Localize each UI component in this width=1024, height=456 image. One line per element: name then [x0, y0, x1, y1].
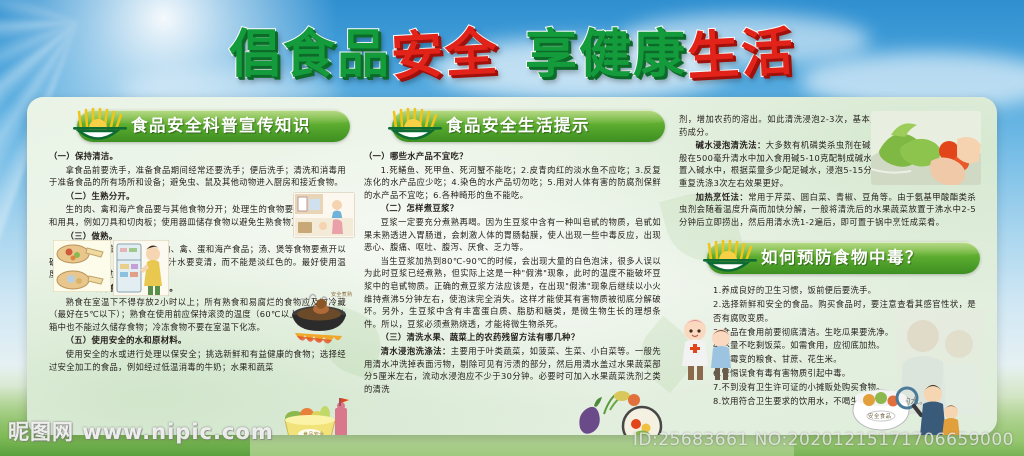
- poster-canvas: 倡食品安全享健康生活 食品安全科普宣传知识: [0, 0, 1024, 456]
- svg-text:安全食品: 安全食品: [868, 412, 892, 420]
- title-part-4: 生活: [685, 19, 796, 91]
- list-item: 1.养成良好的卫生习惯，饭前便后要洗手。: [713, 284, 976, 297]
- svg-text:食品安全: 食品安全: [303, 431, 324, 435]
- panel1-body: 安全煮熟 食品安全 （一）保持清洁。: [45, 144, 350, 373]
- cutting-board-raw-food-illustration: [53, 240, 111, 292]
- fruit-basket-safe-food-illustration: 食品安全: [265, 394, 351, 435]
- image-id-watermark: ID:25683661 NO:20201215171706659000: [633, 430, 1014, 450]
- site-watermark: 昵图网 www.nipic.com: [8, 416, 274, 446]
- bowl-sunrise-icon: [71, 106, 133, 146]
- panel3-continued-body: 剂，增加农药的溶出。如此清洗浸泡2-3次，基本上可清除绝大部分残留的农药成分。 …: [675, 97, 980, 228]
- panel2-body: （一）哪些水产品不宜吃？ 1.死鳝鱼、死甲鱼、死河蟹不能吃；2.皮青肉红的淡水鱼…: [360, 144, 665, 395]
- section-text: 加热烹饪法：常用于芹菜、圆白菜、青椒、豆角等。由于氨基甲酸酯类杀虫剂会随着温度升…: [679, 191, 976, 229]
- vegetable-magnifier-illustration: [574, 384, 666, 435]
- panel-prevent-food-poisoning: 剂，增加农药的溶出。如此清洗浸泡2-3次，基本上可清除绝大部分残留的农药成分。 …: [675, 97, 980, 409]
- nurse-cartoon-illustration: [677, 314, 737, 382]
- panel1-header: 食品安全科普宣传知识: [45, 110, 350, 144]
- panel2-header: 食品安全生活提示: [360, 110, 665, 144]
- section-heading: （二）怎样煮豆浆？: [364, 202, 661, 215]
- food-inspection-cartoon-illustration: 安全食品: [845, 380, 963, 435]
- title-part-2: 安全: [389, 19, 500, 91]
- section-heading: （一）保持清洁。: [49, 150, 346, 163]
- section-text: 拿食品前要洗手，准备食品期间经常还要洗手；便后洗手；清洗和消毒用于准备食品的所有…: [49, 164, 346, 189]
- refrigerator-woman-illustration: [113, 240, 169, 296]
- panel3-title: 如何预防食物中毒？: [761, 242, 923, 274]
- poster-title: 倡食品安全享健康生活: [0, 22, 1024, 88]
- section-text: 使用安全的水或进行处理以保安全；挑选新鲜和有益健康的食物；选择经过安全加工的食品…: [49, 348, 346, 373]
- content-board: 食品安全科普宣传知识: [27, 97, 997, 435]
- panel3-header: 如何预防食物中毒？: [675, 242, 980, 276]
- washing-vegetables-hands-illustration: [871, 111, 981, 185]
- section-heading: （三）清洗水果、蔬菜上的农药残留方法有哪几种？: [364, 331, 661, 344]
- svg-text:安全煮熟: 安全煮熟: [331, 291, 352, 298]
- panel3-tips-body: 安全食品 1.养成良好的卫生习惯，饭前便后要洗手。 2.选择新鲜和安全的食品。购…: [675, 276, 980, 408]
- section-text: 豆浆一定要充分煮熟再喝。因为生豆浆中含有一种叫皂甙的物质，皂甙如果未熟透进入胃肠…: [364, 216, 661, 254]
- panel1-title: 食品安全科普宣传知识: [131, 110, 311, 142]
- handwashing-kitchen-illustration: [293, 192, 355, 238]
- panel-food-safety-tips: 食品安全生活提示 （一）哪些水产品不宜吃？: [360, 97, 665, 396]
- panel-food-safety-knowledge: 食品安全科普宣传知识: [45, 97, 350, 374]
- title-part-3: 享健康: [525, 22, 687, 88]
- bowl-sunrise-icon: [386, 106, 448, 146]
- bowl-sunrise-icon: [701, 238, 763, 278]
- hotpot-cooking-illustration: 安全煮熟: [281, 287, 357, 349]
- section-heading: （一）哪些水产品不宜吃？: [364, 150, 661, 163]
- title-part-1: 倡食品: [229, 22, 391, 88]
- panel2-title: 食品安全生活提示: [446, 110, 590, 142]
- section-text: 当生豆浆加热到80℃-90℃的时候，会出现大量的白色泡沫，很多人误以为此时豆浆已…: [364, 255, 661, 331]
- section-text: 1.死鳝鱼、死甲鱼、死河蟹不能吃；2.皮青肉红的淡水鱼不应吃；3.反复冻化的水产…: [364, 164, 661, 202]
